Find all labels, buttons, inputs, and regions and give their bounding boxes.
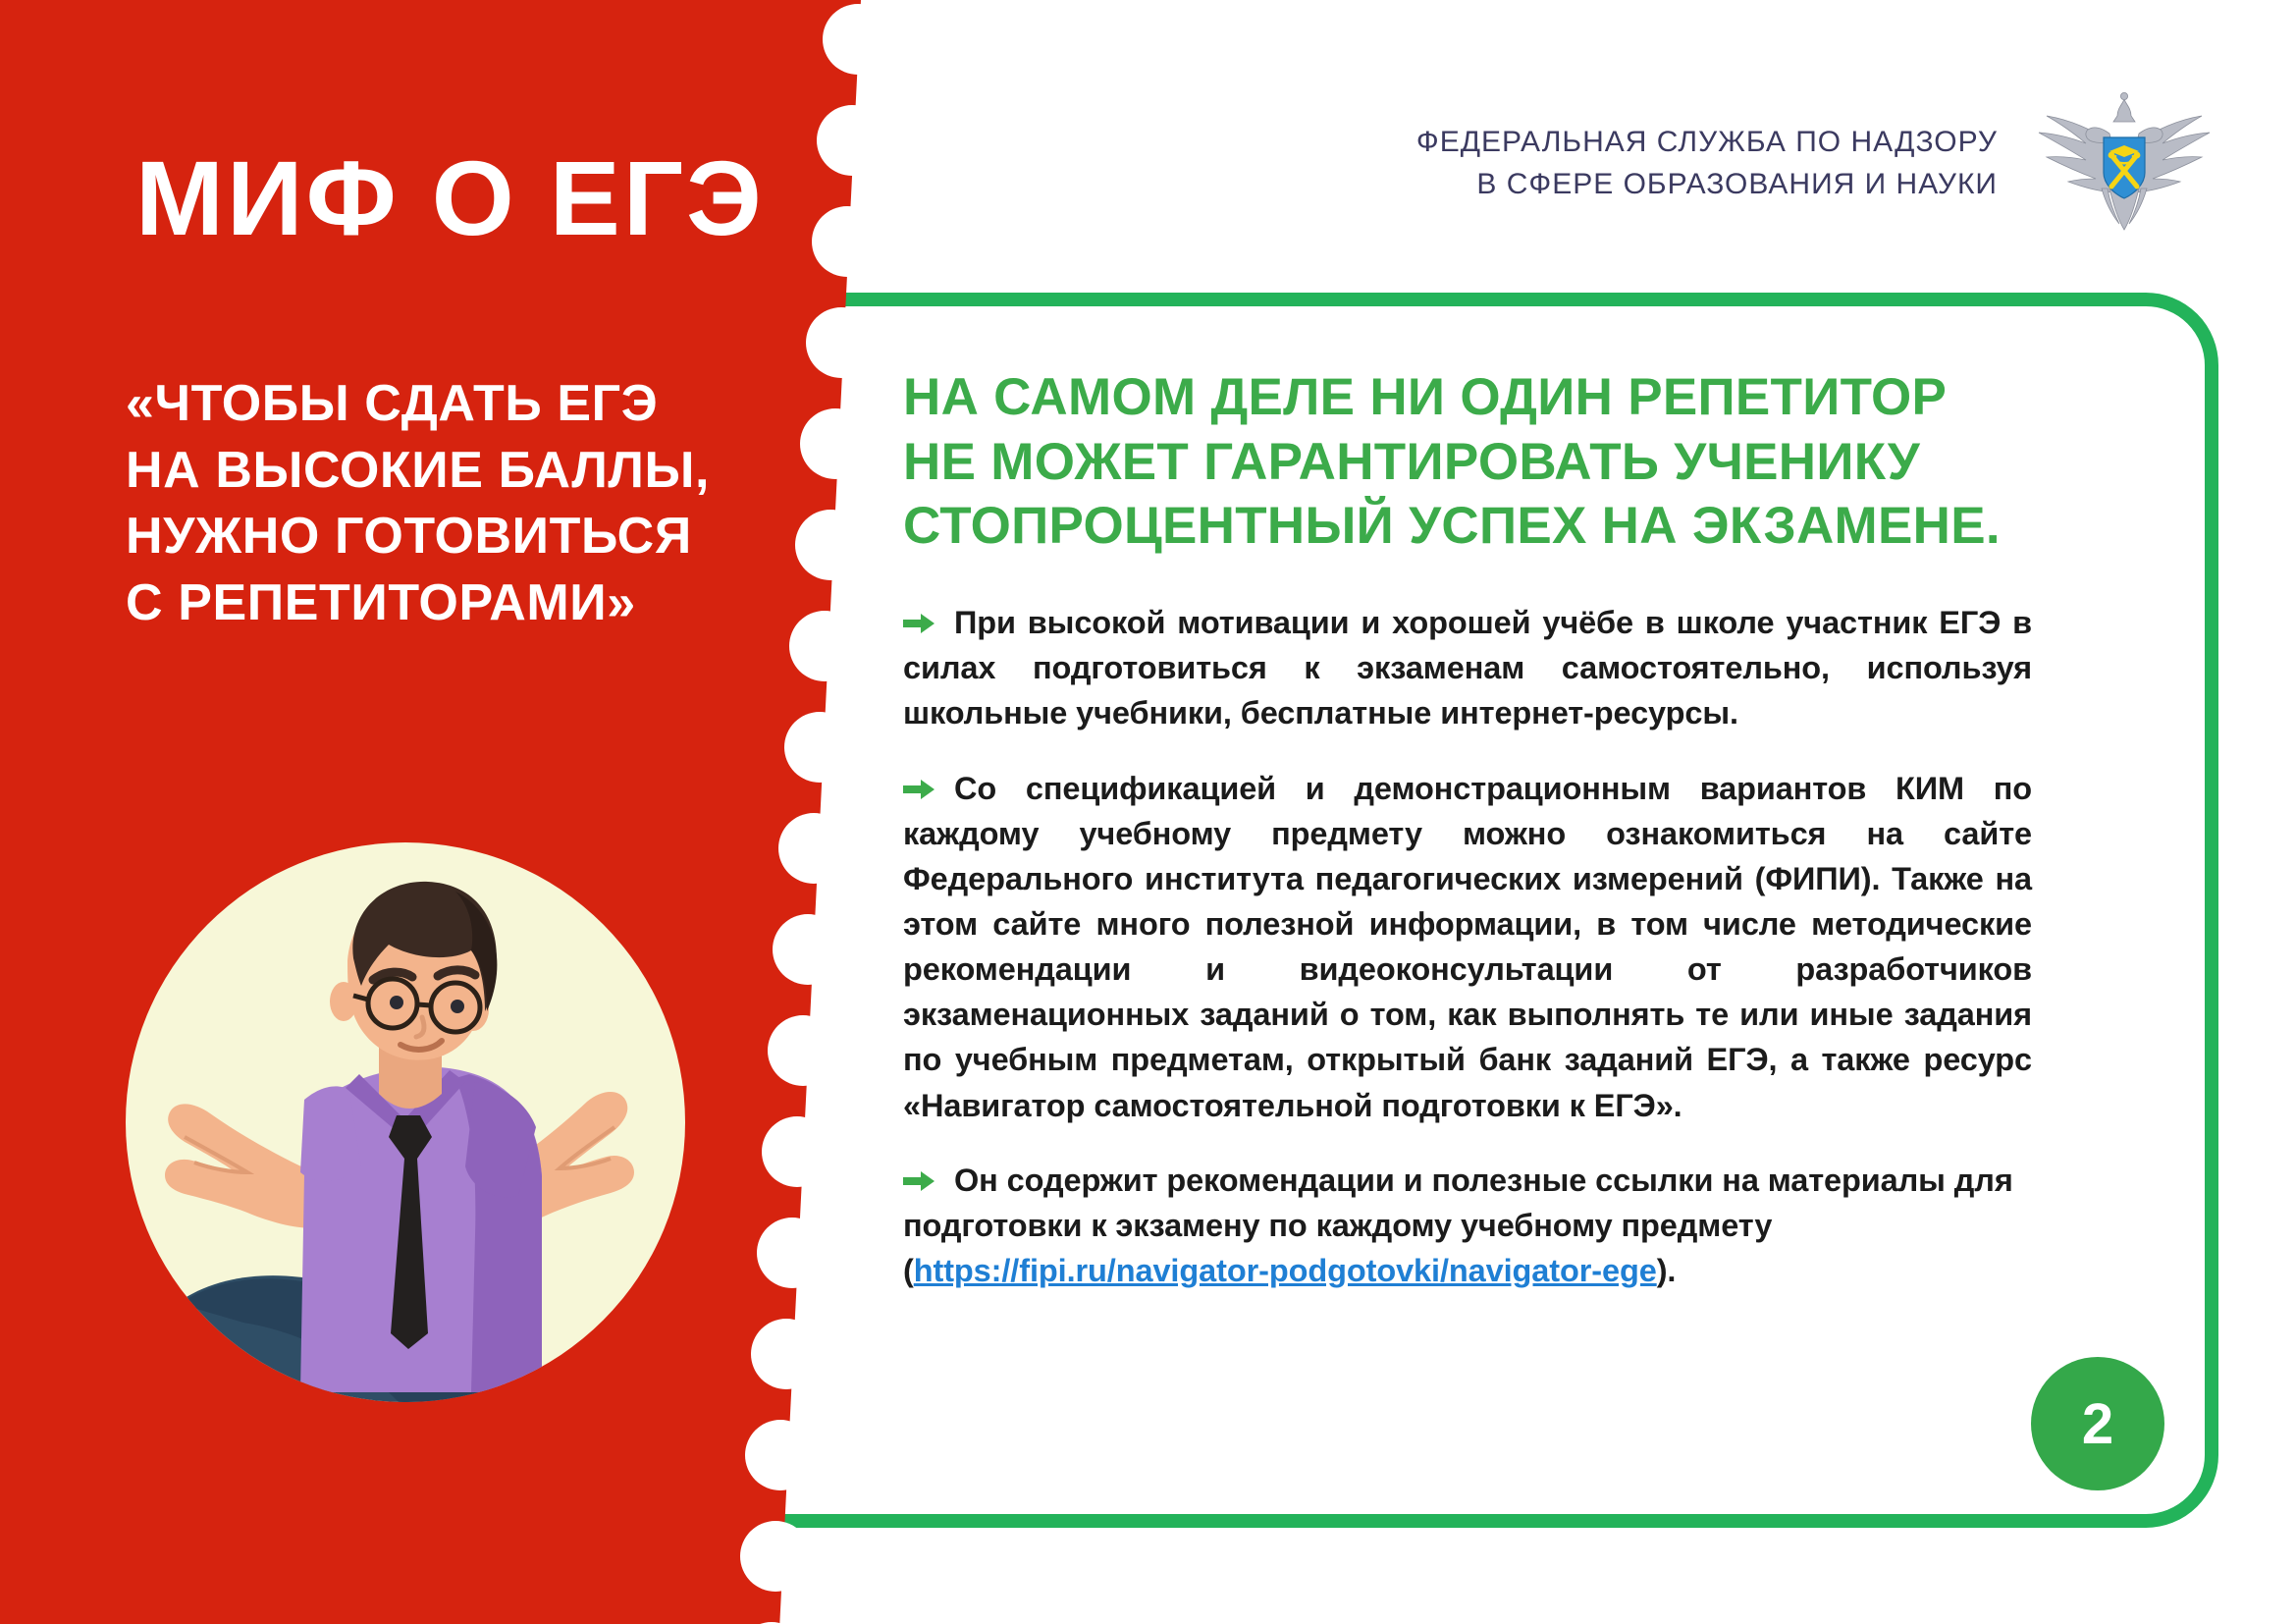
- organization-name-line2: В СФЕРЕ ОБРАЗОВАНИЯ И НАУКИ: [1416, 164, 1998, 206]
- link-close-paren: ).: [1657, 1253, 1677, 1288]
- body-paragraph-1-text: При высокой мотивации и хорошей учёбе в …: [903, 605, 2032, 731]
- shrugging-man-illustration: [126, 842, 685, 1402]
- arrow-bullet-icon: [903, 602, 936, 625]
- body-paragraph-1: При высокой мотивации и хорошей учёбе в …: [903, 600, 2032, 735]
- body-paragraph-3: Он содержит рекомендации и полезные ссыл…: [903, 1158, 2032, 1293]
- navigator-ege-link[interactable]: https://fipi.ru/navigator-podgotovki/nav…: [914, 1253, 1657, 1288]
- infographic-page: МИФ О ЕГЭ «ЧТОБЫ СДАТЬ ЕГЭ НА ВЫСОКИЕ БА…: [0, 0, 2296, 1624]
- body-paragraph-3-text: Он содержит рекомендации и полезные ссыл…: [903, 1163, 2013, 1243]
- arrow-bullet-icon: [903, 768, 936, 791]
- myth-quote-text: «ЧТОБЫ СДАТЬ ЕГЭ НА ВЫСОКИЕ БАЛЛЫ, НУЖНО…: [126, 371, 715, 636]
- body-paragraph-2-text: Со спецификацией и демонстрационным вари…: [903, 771, 2032, 1123]
- header: ФЕДЕРАЛЬНАЯ СЛУЖБА ПО НАДЗОРУ В СФЕРЕ ОБ…: [1416, 90, 2217, 238]
- arrow-bullet-icon: [903, 1160, 936, 1183]
- main-headline: НА САМОМ ДЕЛЕ НИ ОДИН РЕПЕТИТОР НЕ МОЖЕТ…: [903, 365, 2032, 559]
- page-title: МИФ О ЕГЭ: [135, 145, 765, 251]
- organization-name-line1: ФЕДЕРАЛЬНАЯ СЛУЖБА ПО НАДЗОРУ: [1416, 122, 1998, 164]
- link-open-paren: (: [903, 1253, 914, 1288]
- main-content: НА САМОМ ДЕЛЕ НИ ОДИН РЕПЕТИТОР НЕ МОЖЕТ…: [903, 365, 2032, 1323]
- rosobrnadzor-emblem-icon: [2031, 90, 2217, 238]
- organization-name: ФЕДЕРАЛЬНАЯ СЛУЖБА ПО НАДЗОРУ В СФЕРЕ ОБ…: [1416, 122, 1998, 205]
- body-paragraph-2: Со спецификацией и демонстрационным вари…: [903, 766, 2032, 1128]
- page-number-badge: 2: [2031, 1357, 2164, 1490]
